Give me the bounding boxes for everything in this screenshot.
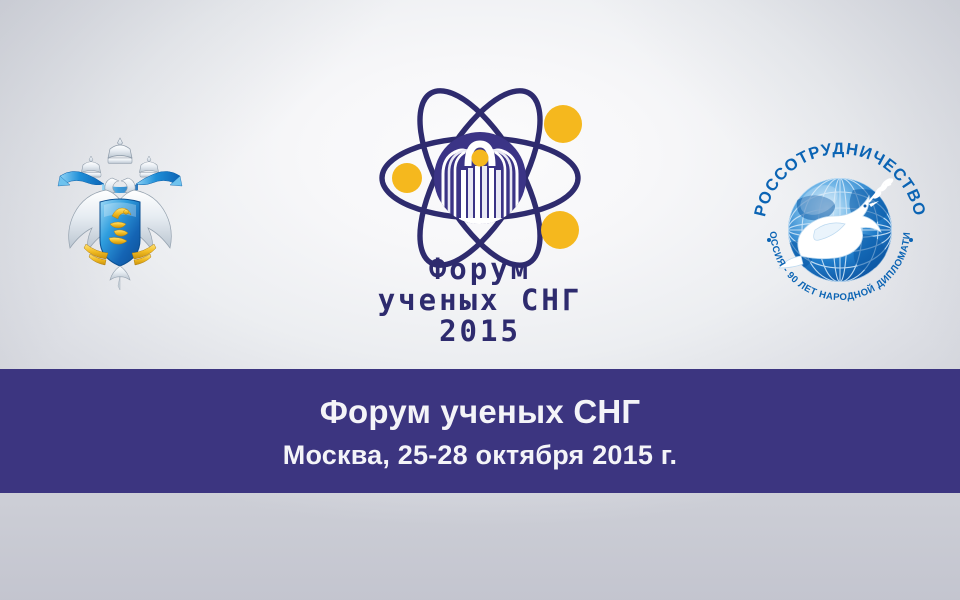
blue-ribbon	[58, 171, 182, 193]
banner-subtitle: Москва, 25-28 октября 2015 г.	[283, 442, 677, 469]
forum-wordmark: Форум ученых СНГ 2015	[378, 252, 583, 348]
emblem-tail	[110, 266, 130, 290]
electron-top-right	[544, 105, 582, 143]
cis-center-dot	[472, 150, 489, 167]
ministry-emblem-logo	[46, 132, 194, 292]
logo-row: Форум ученых СНГ 2015	[0, 0, 960, 369]
electron-bottom-right	[541, 211, 579, 249]
poster-canvas: Форум ученых СНГ 2015	[0, 0, 960, 600]
rossotrudnichestvo-logo: РОССОТРУДНИЧЕСТВО РОССИЯ - 90 ЛЕТ НАРОДН…	[745, 138, 935, 318]
forum-atom-logo: Форум ученых СНГ 2015	[355, 78, 605, 348]
olive-leaves	[871, 177, 894, 200]
arc-dot-left	[767, 238, 771, 242]
banner-title: Форум ученых СНГ	[320, 395, 641, 428]
electron-left	[392, 163, 422, 193]
arc-dot-right	[909, 238, 913, 242]
forum-wordmark-line1: Форум	[429, 252, 531, 286]
title-banner: Форум ученых СНГ Москва, 25-28 октября 2…	[0, 369, 960, 493]
crown-group	[81, 138, 159, 177]
forum-wordmark-line3: 2015	[439, 314, 521, 348]
cis-emblem-nucleus	[434, 132, 526, 224]
forum-wordmark-line2: ученых СНГ	[378, 283, 583, 317]
